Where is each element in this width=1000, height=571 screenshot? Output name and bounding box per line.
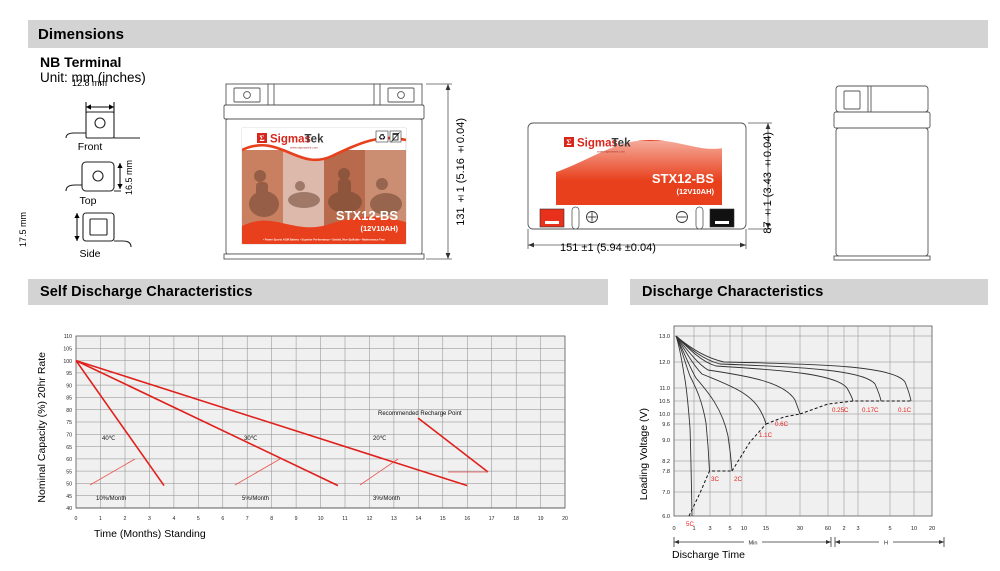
svg-text:Tek: Tek <box>612 138 632 150</box>
label-tagline: • Power Sports AGM Battery • Superior Pe… <box>263 238 385 242</box>
self-discharge-x-label: Time (Months) Standing <box>94 528 206 540</box>
svg-text:10: 10 <box>318 516 324 522</box>
svg-text:70: 70 <box>66 433 72 439</box>
svg-text:Tek: Tek <box>305 134 325 146</box>
svg-text:5: 5 <box>728 526 731 532</box>
svg-text:110: 110 <box>64 334 72 340</box>
self-discharge-y-label: Nominal Capacity (%) 20hr Rate <box>36 352 48 512</box>
dimensions-title: Dimensions <box>28 26 124 43</box>
height-dimension-line <box>426 84 452 259</box>
svg-text:♻: ♻ <box>378 132 386 142</box>
label-voltage-front: (12V10AH) <box>360 224 398 233</box>
battery-front-view: Σ Sigmas Tek www.sigmastek.com ♻ STX12-B… <box>220 76 430 266</box>
battery-label-artwork: Σ Sigmas Tek www.sigmastek.com ♻ STX12-B… <box>242 116 406 244</box>
svg-text:7.8: 7.8 <box>662 469 670 475</box>
battery-depth-dim: 87 ±1 (3.43 ±0.04) <box>762 132 774 234</box>
view-label-top: Top <box>58 195 118 207</box>
positive-terminal <box>540 209 564 227</box>
svg-text:100: 100 <box>63 359 72 365</box>
svg-text:Σ: Σ <box>259 134 264 143</box>
view-label-side: Side <box>60 248 120 260</box>
label-0.1C: 0.1C <box>898 407 912 414</box>
svg-text:4: 4 <box>172 516 175 522</box>
svg-text:3: 3 <box>708 526 711 532</box>
svg-text:10: 10 <box>911 526 917 532</box>
negative-terminal <box>710 209 734 227</box>
svg-text:8.2: 8.2 <box>662 459 670 465</box>
label-3C: 3C <box>711 476 719 483</box>
svg-text:11.0: 11.0 <box>660 386 670 392</box>
terminal-front-view <box>86 112 114 138</box>
discharge-chart: 13.0 12.0 11.0 10.5 10.0 9.6 9.0 8.2 7.8… <box>632 318 992 568</box>
svg-text:6.0: 6.0 <box>662 514 670 520</box>
unit-label-hour: H <box>884 541 888 547</box>
svg-text:9.0: 9.0 <box>662 438 670 444</box>
svg-text:16: 16 <box>464 516 470 522</box>
svg-text:1: 1 <box>99 516 102 522</box>
self-discharge-title: Self Discharge Characteristics <box>28 284 253 300</box>
svg-text:1: 1 <box>692 526 695 532</box>
annotation-3pct: 3%/Month <box>373 496 400 502</box>
svg-text:5: 5 <box>197 516 200 522</box>
svg-text:7: 7 <box>246 516 249 522</box>
terminal-side-base <box>114 241 131 247</box>
side-dimension-arrow <box>74 213 79 241</box>
battery-length-dim: 151 ±1 (5.94 ±0.04) <box>560 242 656 254</box>
svg-text:14: 14 <box>416 516 422 522</box>
svg-text:3: 3 <box>856 526 859 532</box>
svg-text:2: 2 <box>124 516 127 522</box>
svg-text:13: 13 <box>391 516 397 522</box>
discharge-y-ticks: 13.0 12.0 11.0 10.5 10.0 9.6 9.0 8.2 7.8… <box>659 334 670 520</box>
svg-text:20: 20 <box>929 526 935 532</box>
discharge-x-label: Discharge Time <box>672 549 745 561</box>
y-axis-ticks: 110 105 100 95 90 85 80 75 70 65 60 55 5… <box>63 334 72 512</box>
self-discharge-chart: 110 105 100 95 90 85 80 75 70 65 60 55 5… <box>30 322 590 552</box>
svg-text:60: 60 <box>66 457 72 463</box>
svg-text:15: 15 <box>440 516 446 522</box>
top-dimension-arrow <box>117 163 122 189</box>
chart-gridlines <box>76 336 565 508</box>
svg-text:55: 55 <box>66 469 72 475</box>
svg-text:12.0: 12.0 <box>659 360 670 366</box>
svg-text:www.sigmastek.com: www.sigmastek.com <box>290 146 318 150</box>
annotation-5pct: 5%/Month <box>242 496 269 502</box>
x-axis-ticks: 0 1 2 3 4 5 6 7 8 9 10 11 12 13 14 15 16… <box>75 508 568 522</box>
discharge-y-label: Loading Voltage (V) <box>638 408 650 503</box>
svg-text:18: 18 <box>513 516 519 522</box>
svg-text:60: 60 <box>825 526 831 532</box>
terminal-side-dim: 17.5 mm <box>18 212 28 247</box>
dimensions-section-header: Dimensions <box>28 20 988 48</box>
discharge-x-ticks: 0 1 3 5 10 15 30 60 2 3 5 10 20 <box>672 526 935 532</box>
svg-text:105: 105 <box>63 347 72 353</box>
label-2C: 2C <box>734 476 742 483</box>
svg-text:11: 11 <box>342 516 347 522</box>
battery-height-dim: 131 ±1 (5.16 ±0.04) <box>455 118 467 226</box>
terminal-side-view <box>83 213 114 241</box>
annotation-10pct: 10%/Month <box>96 496 126 502</box>
svg-text:50: 50 <box>66 482 72 488</box>
battery-side-view <box>822 82 942 267</box>
nb-terminal-title: NB Terminal <box>40 54 121 70</box>
top-label-artwork: Σ Sigmas Tek www.sigmastek.com STX12-BS … <box>556 133 722 205</box>
svg-text:30: 30 <box>797 526 803 532</box>
unit-label-min: Min <box>748 541 757 547</box>
svg-text:40: 40 <box>66 506 72 512</box>
svg-text:www.sigmastek.com: www.sigmastek.com <box>597 150 625 154</box>
svg-text:75: 75 <box>66 420 72 426</box>
svg-text:12: 12 <box>367 516 373 522</box>
svg-text:3: 3 <box>148 516 151 522</box>
self-discharge-section-header: Self Discharge Characteristics <box>28 279 608 305</box>
svg-text:80: 80 <box>66 408 72 414</box>
svg-text:45: 45 <box>66 494 72 500</box>
svg-text:90: 90 <box>66 383 72 389</box>
label-voltage-top: (12V10AH) <box>676 187 714 196</box>
label-0.17C: 0.17C <box>862 407 879 414</box>
svg-text:65: 65 <box>66 445 72 451</box>
label-0.6C: 0.6C <box>775 421 789 428</box>
terminal-top-dim: 16.5 mm <box>124 160 134 195</box>
svg-text:Σ: Σ <box>566 138 571 147</box>
svg-text:19: 19 <box>538 516 544 522</box>
svg-text:8: 8 <box>270 516 273 522</box>
svg-text:10: 10 <box>741 526 747 532</box>
annotation-20c: 20℃ <box>373 436 387 442</box>
svg-text:9: 9 <box>295 516 298 522</box>
svg-text:17: 17 <box>489 516 495 522</box>
svg-text:13.0: 13.0 <box>659 334 670 340</box>
svg-text:10.0: 10.0 <box>659 412 670 418</box>
svg-text:2: 2 <box>842 526 845 532</box>
svg-text:85: 85 <box>66 396 72 402</box>
svg-text:5: 5 <box>888 526 891 532</box>
svg-text:9.6: 9.6 <box>662 422 670 428</box>
discharge-title: Discharge Characteristics <box>630 284 823 300</box>
terminal-width-dim: 12.8 mm <box>72 78 107 88</box>
discharge-section-header: Discharge Characteristics <box>630 279 988 305</box>
terminal-top-view <box>82 162 114 191</box>
svg-text:0: 0 <box>75 516 78 522</box>
label-0.25C: 0.25C <box>832 407 849 414</box>
label-1.1C: 1.1C <box>759 432 773 439</box>
view-label-front: Front <box>60 141 120 153</box>
label-model-top: STX12-BS <box>652 171 714 186</box>
svg-text:95: 95 <box>66 371 72 377</box>
annotation-recharge: Recommended Recharge Point <box>378 411 462 417</box>
label-model-front: STX12-BS <box>336 208 398 223</box>
annotation-40c: 40℃ <box>102 436 116 442</box>
svg-text:10.5: 10.5 <box>659 399 670 405</box>
unit-range-bars <box>674 537 944 547</box>
svg-text:0: 0 <box>672 526 675 532</box>
svg-text:6: 6 <box>221 516 224 522</box>
svg-text:7.0: 7.0 <box>662 490 670 496</box>
svg-text:15: 15 <box>763 526 769 532</box>
svg-text:20: 20 <box>562 516 568 522</box>
annotation-30c: 30℃ <box>244 436 258 442</box>
